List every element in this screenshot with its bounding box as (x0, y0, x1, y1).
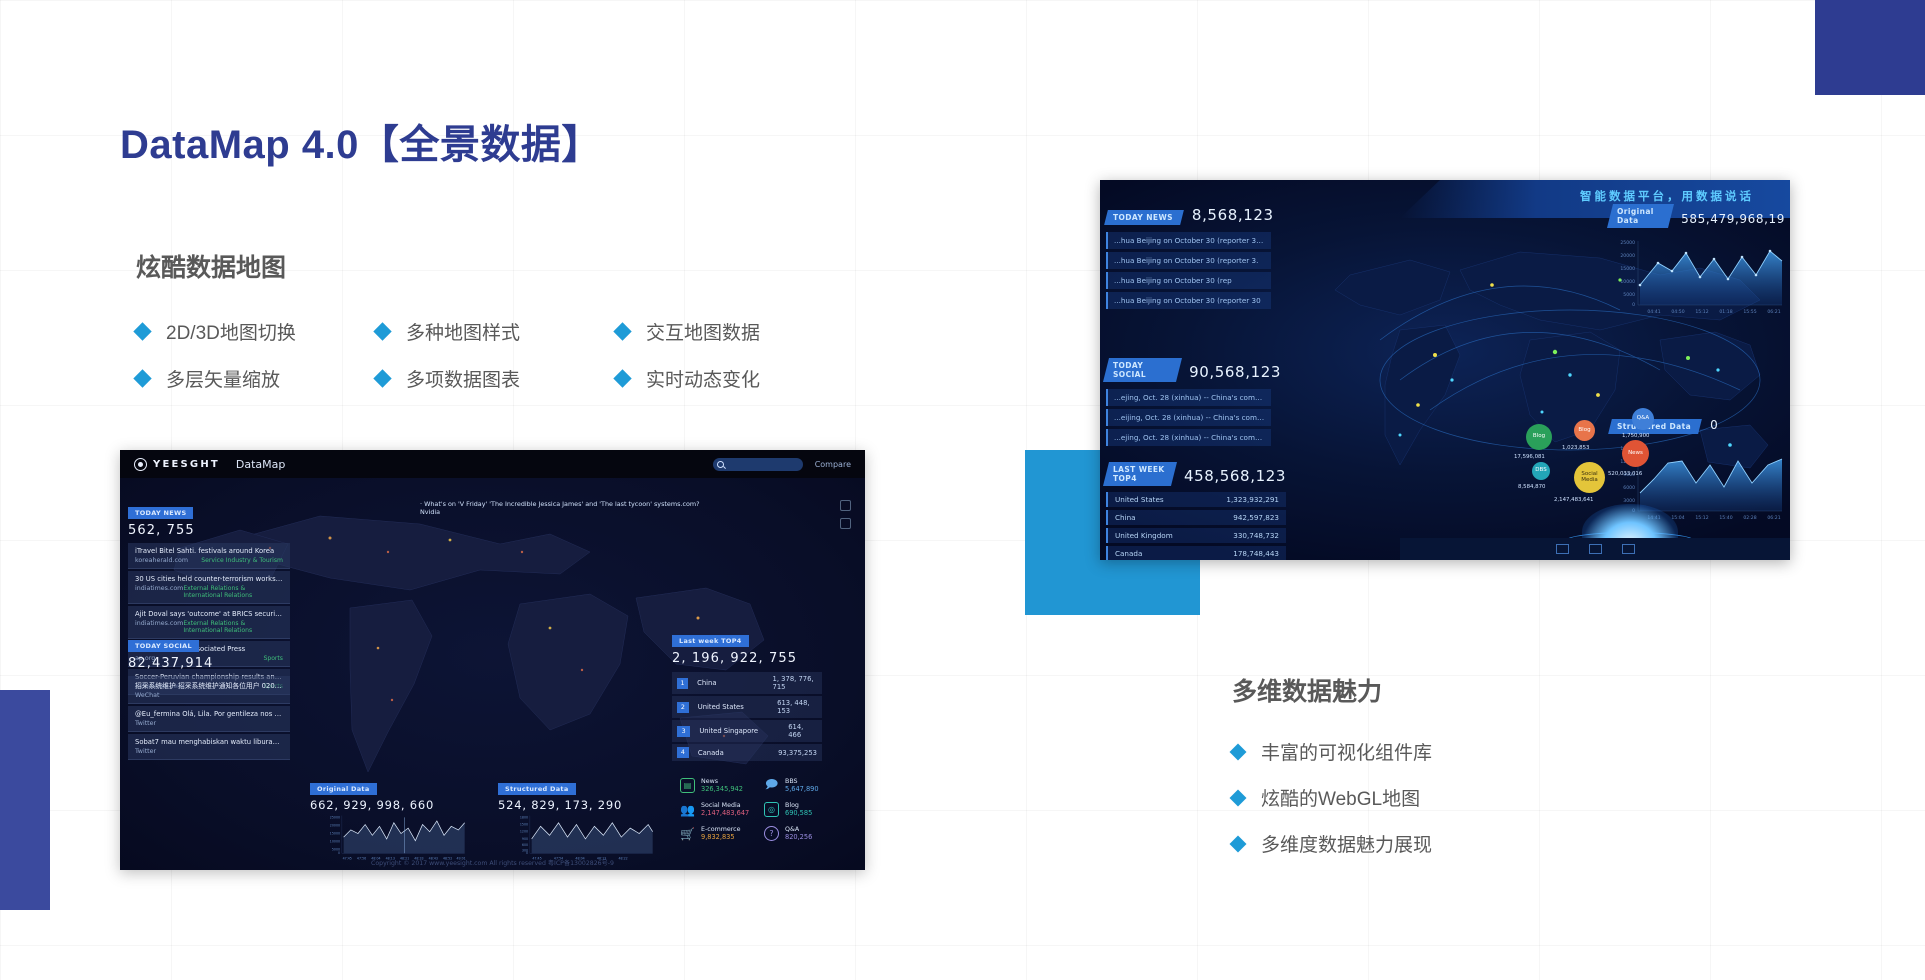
bubble-blog[interactable]: Blog (1526, 424, 1552, 450)
original-data-stat: Original Data 585,479,968,19 (1610, 204, 1785, 228)
category-name: Q&A (785, 826, 812, 833)
rank-value: 93,375,253 (778, 749, 817, 757)
feature-column-2: 多种地图样式 多项数据图表 (376, 318, 616, 412)
diamond-bullet-icon (1230, 743, 1247, 760)
rank-country: United States (1115, 495, 1164, 504)
today-news-tag: TODAY NEWS (1104, 210, 1184, 225)
social-title: @Eu_fermina Olá, Lila. Por gentileza nos… (135, 710, 283, 718)
svg-text:06:21: 06:21 (1767, 515, 1780, 521)
svg-text:06:21: 06:21 (1767, 309, 1780, 315)
social-row[interactable]: 招采系统维护 招采系统维护通知各位用户 020-31092222 020-84.… (128, 676, 290, 704)
zoom-in-button[interactable] (840, 500, 851, 511)
original-data-value: 585,479,968,19 (1681, 212, 1785, 226)
news-source: koreaherald.com (135, 557, 188, 564)
bl-original-data-tag: Original Data (310, 783, 377, 795)
last-week-panel: LAST WEEK TOP4 458,568,123 United States… (1106, 462, 1286, 560)
map-tooltip: · What's on 'V Friday' 'The Incredible J… (420, 500, 710, 516)
category-ecommerce[interactable]: 🛒 E-commerce 9,832,835 (680, 826, 750, 841)
feature-item: 交互地图数据 (616, 318, 856, 345)
social-icon: 👥 (680, 802, 695, 817)
today-news-panel: TODAY NEWS 8,568,123 ...hua Beijing on O… (1106, 206, 1281, 312)
social-source: Twitter (135, 748, 156, 755)
bubble-social-media[interactable]: Social Media (1574, 462, 1605, 493)
feature-label: 2D/3D地图切换 (166, 318, 296, 345)
bubble-value: 1,750,900 (1622, 433, 1649, 439)
svg-text:02:28: 02:28 (1743, 515, 1756, 521)
svg-text:15:55: 15:55 (1743, 309, 1756, 315)
decorative-square-top-right (1815, 0, 1925, 95)
bl-structured-data-value: 524, 829, 173, 290 (498, 798, 663, 812)
today-news-value: 8,568,123 (1192, 206, 1274, 224)
news-row[interactable]: iTravel Bitel Sahti. festivals around Ko… (128, 543, 290, 569)
category-name: E-commerce (701, 826, 741, 833)
news-source: indiatimes.com (135, 620, 183, 634)
bubble-value: 2,147,483,641 (1554, 497, 1593, 503)
left-feature-block: 炫酷数据地图 2D/3D地图切换 多层矢量缩放 多种地图样式 多项数据图表 (136, 248, 856, 412)
bl-today-news-value: 562, 755 (128, 523, 290, 538)
news-title: 30 US cities held counter-terrorism work… (135, 575, 283, 583)
rank-country: Canada (698, 749, 769, 757)
svg-text:15:12: 15:12 (1695, 309, 1708, 315)
footer-grid-button[interactable] (1589, 544, 1602, 554)
news-category: External Relations & International Relat… (183, 585, 283, 599)
svg-text:25000: 25000 (1620, 240, 1635, 246)
category-social-media[interactable]: 👥 Social Media 2,147,483,647 (680, 802, 750, 817)
bubble-value: 1,023,853 (1562, 445, 1589, 451)
category-value: 326,345,942 (701, 785, 743, 793)
news-line[interactable]: ...hua Beijing on October 30 (reporter 3… (1106, 292, 1271, 309)
bl-original-data-panel: Original Data 662, 929, 998, 660 2500020… (310, 776, 475, 868)
feature-item: 丰富的可视化组件库 (1232, 738, 1662, 765)
diamond-bullet-icon (1230, 835, 1247, 852)
svg-text:15000: 15000 (1620, 266, 1635, 272)
diamond-bullet-icon (373, 322, 391, 340)
svg-text:10000: 10000 (1620, 279, 1635, 285)
bl-structured-data-panel: Structured Data 524, 829, 173, 290 18001… (498, 776, 663, 868)
bl-original-data-value: 662, 929, 998, 660 (310, 798, 475, 812)
bl-today-social-tag: TODAY SOCIAL (128, 640, 199, 652)
category-bbs[interactable]: 🗩 BBS 5,647,890 (764, 778, 834, 793)
last-week-value: 458,568,123 (1184, 467, 1286, 485)
original-data-tag: Original Data (1607, 204, 1674, 228)
social-line[interactable]: ...ejing, Oct. 28 (xinhua) -- China's co… (1106, 429, 1271, 446)
rank-row[interactable]: United States 1,323,932,291 (1106, 492, 1286, 507)
svg-text:04:41: 04:41 (1647, 309, 1660, 315)
brand-name: YEESGHT (153, 459, 220, 470)
bubble-news[interactable]: News (1622, 440, 1649, 467)
feature-item: 多维度数据魅力展现 (1232, 830, 1662, 857)
today-news-list: ...hua Beijing on October 30 (reporter 3… (1106, 232, 1281, 309)
rank-row[interactable]: United Kingdom 330,748,732 (1106, 528, 1286, 543)
blog-icon: ◎ (764, 802, 779, 817)
svg-text:25000: 25000 (330, 815, 340, 819)
rank-value: 330,748,732 (1233, 531, 1279, 540)
category-blog[interactable]: ◎ Blog 690,585 (764, 802, 834, 817)
dashboard-footer-controls (1400, 538, 1790, 560)
today-social-stat: TODAY SOCIAL 90,568,123 (1106, 358, 1281, 382)
svg-text:1200: 1200 (520, 830, 528, 834)
diamond-bullet-icon (133, 369, 151, 387)
category-news[interactable]: ▤ News 326,345,942 (680, 778, 750, 793)
bubble-value: 17,596,081 (1514, 454, 1545, 460)
rank-number: 3 (677, 726, 690, 737)
yeesight-logo-icon (134, 458, 147, 471)
news-line[interactable]: ...hua Beijing on October 30 (rep (1106, 272, 1271, 289)
bl-structured-data-tag: Structured Data (498, 783, 576, 795)
rank-value: 1,323,932,291 (1226, 495, 1279, 504)
feature-column-3: 交互地图数据 实时动态变化 (616, 318, 856, 412)
svg-text:600: 600 (522, 843, 528, 847)
bubble-value: 520,033,016 (1608, 471, 1642, 477)
social-line[interactable]: ...eijing, Oct. 28 (xinhua) -- China's c… (1106, 409, 1271, 426)
rank-row[interactable]: Canada 178,748,443 (1106, 546, 1286, 560)
diamond-bullet-icon (613, 369, 631, 387)
feature-item: 炫酷的WebGL地图 (1232, 784, 1662, 811)
svg-text:01:18: 01:18 (1719, 309, 1732, 315)
category-value: 5,647,890 (785, 785, 819, 793)
bl-original-data-chart: 250002000015000 1000050000 47:4547:5648:… (310, 812, 475, 864)
rank-row[interactable]: China 942,597,823 (1106, 510, 1286, 525)
svg-text:5000: 5000 (1623, 292, 1635, 298)
svg-text:0: 0 (526, 851, 528, 855)
today-social-tag: TODAY SOCIAL (1103, 358, 1182, 382)
bl-rank-list: 1 China 1, 378, 776, 715 2 United States… (672, 672, 822, 761)
zoom-out-button[interactable] (840, 518, 851, 529)
dashboard-screenshot-top-right: 智能数据平台，用数据说话 TODAY NEWS 8,568,123 ...hua… (1100, 180, 1790, 560)
bubble-qa[interactable]: Q&A (1632, 408, 1654, 430)
feature-item: 2D/3D地图切换 (136, 318, 376, 345)
bl-today-news-tag: TODAY NEWS (128, 507, 193, 519)
news-category: External Relations & International Relat… (183, 620, 283, 634)
bl-last-week-tag: Last week TOP4 (672, 635, 749, 647)
left-section-heading: 炫酷数据地图 (136, 248, 856, 284)
left-feature-grid: 2D/3D地图切换 多层矢量缩放 多种地图样式 多项数据图表 交互地图数据 (136, 318, 856, 412)
bl-today-social-value: 82,437,914 (128, 656, 290, 671)
rank-number: 4 (677, 747, 689, 758)
rank-country: United Singapore (699, 727, 779, 735)
category-value: 690,585 (785, 809, 812, 817)
bubble-value: 8,584,870 (1518, 484, 1545, 490)
today-news-stat: TODAY NEWS 8,568,123 (1106, 206, 1281, 225)
category-value: 2,147,483,647 (701, 809, 749, 817)
rank-country: United Kingdom (1115, 531, 1173, 540)
social-source: WeChat (135, 692, 159, 699)
news-icon: ▤ (680, 778, 695, 793)
bl-social-list: 招采系统维护 招采系统维护通知各位用户 020-31092222 020-84.… (128, 676, 290, 760)
feature-item: 多种地图样式 (376, 318, 616, 345)
social-line[interactable]: ...ejing, Oct. 28 (xinhua) -- China's co… (1106, 389, 1271, 406)
search-icon (717, 461, 724, 468)
category-name: Social Media (701, 802, 749, 809)
feature-item: 多项数据图表 (376, 365, 616, 392)
rank-number: 1 (677, 678, 688, 689)
svg-text:1500: 1500 (520, 822, 528, 826)
today-social-panel: TODAY SOCIAL 90,568,123 ...ejing, Oct. 2… (1106, 358, 1281, 449)
bl-last-week-value: 2, 196, 922, 755 (672, 651, 822, 666)
today-social-list: ...ejing, Oct. 28 (xinhua) -- China's co… (1106, 389, 1281, 446)
feature-label: 多维度数据魅力展现 (1261, 830, 1432, 857)
feature-label: 多项数据图表 (406, 365, 520, 392)
news-title: iTravel Bitel Sahti. festivals around Ko… (135, 547, 283, 555)
diamond-bullet-icon (1230, 789, 1247, 806)
bubble-cluster: Blog 17,596,081 DBS 8,584,870 Blog 1,023… (1530, 400, 1730, 550)
news-title: Ajit Doval says 'outcome' at BRICS secur… (135, 610, 283, 618)
bubble-dbs[interactable]: DBS (1532, 462, 1550, 480)
feature-label: 交互地图数据 (646, 318, 760, 345)
news-line[interactable]: ...hua Beijing on October 30 (reporter 3… (1106, 252, 1271, 269)
svg-text:0: 0 (338, 851, 340, 855)
rank-value: 613, 448, 153 (777, 699, 817, 715)
rank-country: Canada (1115, 549, 1142, 558)
svg-text:1800: 1800 (520, 815, 528, 819)
rank-row[interactable]: 2 United States 613, 448, 153 (672, 696, 822, 718)
social-row[interactable]: @Eu_fermina Olá, Lila. Por gentileza nos… (128, 706, 290, 732)
original-data-chart: 250002000015000 1000050000 04:4104:5015:… (1610, 233, 1785, 321)
rank-value: 1, 378, 776, 715 (773, 675, 817, 691)
search-input[interactable] (713, 458, 803, 471)
rank-row[interactable]: 1 China 1, 378, 776, 715 (672, 672, 822, 694)
bl-structured-data-chart: 180015001200 9006003000 47:4547:5448:04 … (498, 812, 663, 864)
rank-value: 942,597,823 (1233, 513, 1279, 522)
feature-column-1: 2D/3D地图切换 多层矢量缩放 (136, 318, 376, 412)
category-value: 820,256 (785, 833, 812, 841)
copyright-text: Copyright © 2017 www.yeesight.com All ri… (120, 858, 865, 867)
page-title: DataMap 4.0【全景数据】 (120, 112, 602, 170)
category-name: Blog (785, 802, 812, 809)
news-row[interactable]: 30 US cities held counter-terrorism work… (128, 571, 290, 604)
feature-item: 多层矢量缩放 (136, 365, 376, 392)
original-data-panel: Original Data 585,479,968,19 (1610, 204, 1785, 321)
app-name: DataMap (236, 458, 285, 471)
feature-label: 多层矢量缩放 (166, 365, 280, 392)
feature-label: 实时动态变化 (646, 365, 760, 392)
feature-label: 丰富的可视化组件库 (1261, 738, 1432, 765)
rank-country: United States (698, 703, 768, 711)
cart-icon: 🛒 (680, 826, 695, 841)
datamap-screenshot-bottom-left: YEESGHT DataMap Compare (120, 450, 865, 870)
bbs-icon: 🗩 (764, 778, 779, 793)
news-source: indiatimes.com (135, 585, 183, 599)
svg-text:20000: 20000 (330, 823, 340, 827)
dashboard-banner-text: 智能数据平台，用数据说话 (1580, 188, 1754, 204)
footer-next-button[interactable] (1622, 544, 1635, 554)
right-feature-block: 多维数据魅力 丰富的可视化组件库 炫酷的WebGL地图 多维度数据魅力展现 (1232, 672, 1662, 876)
diamond-bullet-icon (613, 322, 631, 340)
category-name: BBS (785, 778, 819, 785)
rank-value: 178,748,443 (1233, 549, 1279, 558)
svg-text:04:50: 04:50 (1671, 309, 1684, 315)
datamap-map-area[interactable]: · What's on 'V Friday' 'The Incredible J… (120, 478, 865, 870)
diamond-bullet-icon (373, 369, 391, 387)
right-section-heading: 多维数据魅力 (1232, 672, 1662, 708)
decorative-square-left (0, 690, 50, 910)
rank-number: 2 (677, 702, 689, 713)
feature-item: 实时动态变化 (616, 365, 856, 392)
svg-text:0: 0 (1632, 302, 1635, 308)
today-social-value: 90,568,123 (1189, 363, 1281, 381)
svg-text:15000: 15000 (330, 831, 340, 835)
bl-today-social-panel: TODAY SOCIAL 82,437,914 招采系统维护 招采系统维护通知各… (128, 633, 290, 760)
rank-row[interactable]: 4 Canada 93,375,253 (672, 744, 822, 761)
svg-text:20000: 20000 (1620, 253, 1635, 259)
bl-last-week-panel: Last week TOP4 2, 196, 922, 755 1 China … (672, 628, 822, 761)
last-week-stat: LAST WEEK TOP4 458,568,123 (1106, 462, 1286, 486)
qa-icon: ? (764, 826, 779, 841)
diamond-bullet-icon (133, 322, 151, 340)
category-qa[interactable]: ? Q&A 820,256 (764, 826, 834, 841)
news-line[interactable]: ...hua Beijing on October 30 (reporter 3… (1106, 232, 1271, 249)
social-title: 招采系统维护 招采系统维护通知各位用户 020-31092222 020-84.… (135, 680, 283, 690)
rank-value: 614, 466 (788, 723, 817, 739)
last-week-rows: United States 1,323,932,291 China 942,59… (1106, 492, 1286, 560)
svg-text:10000: 10000 (330, 839, 340, 843)
news-category: Service Industry & Tourism (201, 557, 283, 564)
social-source: Twitter (135, 720, 156, 727)
datamap-topbar: YEESGHT DataMap Compare (120, 450, 865, 478)
feature-label: 炫酷的WebGL地图 (1261, 784, 1420, 811)
compare-button[interactable]: Compare (815, 460, 851, 469)
svg-text:900: 900 (522, 837, 528, 841)
rank-row[interactable]: 3 United Singapore 614, 466 (672, 720, 822, 742)
category-value: 9,832,835 (701, 833, 741, 841)
category-name: News (701, 778, 743, 785)
rank-country: China (1115, 513, 1136, 522)
social-title: Sobat7 mau menghabiskan waktu liburan di… (135, 738, 283, 746)
category-legend: ▤ News 326,345,942 🗩 BBS 5,647,890 👥 Soc… (680, 778, 850, 841)
footer-prev-button[interactable] (1556, 544, 1569, 554)
bubble-blog-2[interactable]: Blog (1574, 420, 1595, 441)
feature-label: 多种地图样式 (406, 318, 520, 345)
social-row[interactable]: Sobat7 mau menghabiskan waktu liburan di… (128, 734, 290, 760)
rank-country: China (697, 679, 763, 687)
last-week-tag: LAST WEEK TOP4 (1103, 462, 1177, 486)
